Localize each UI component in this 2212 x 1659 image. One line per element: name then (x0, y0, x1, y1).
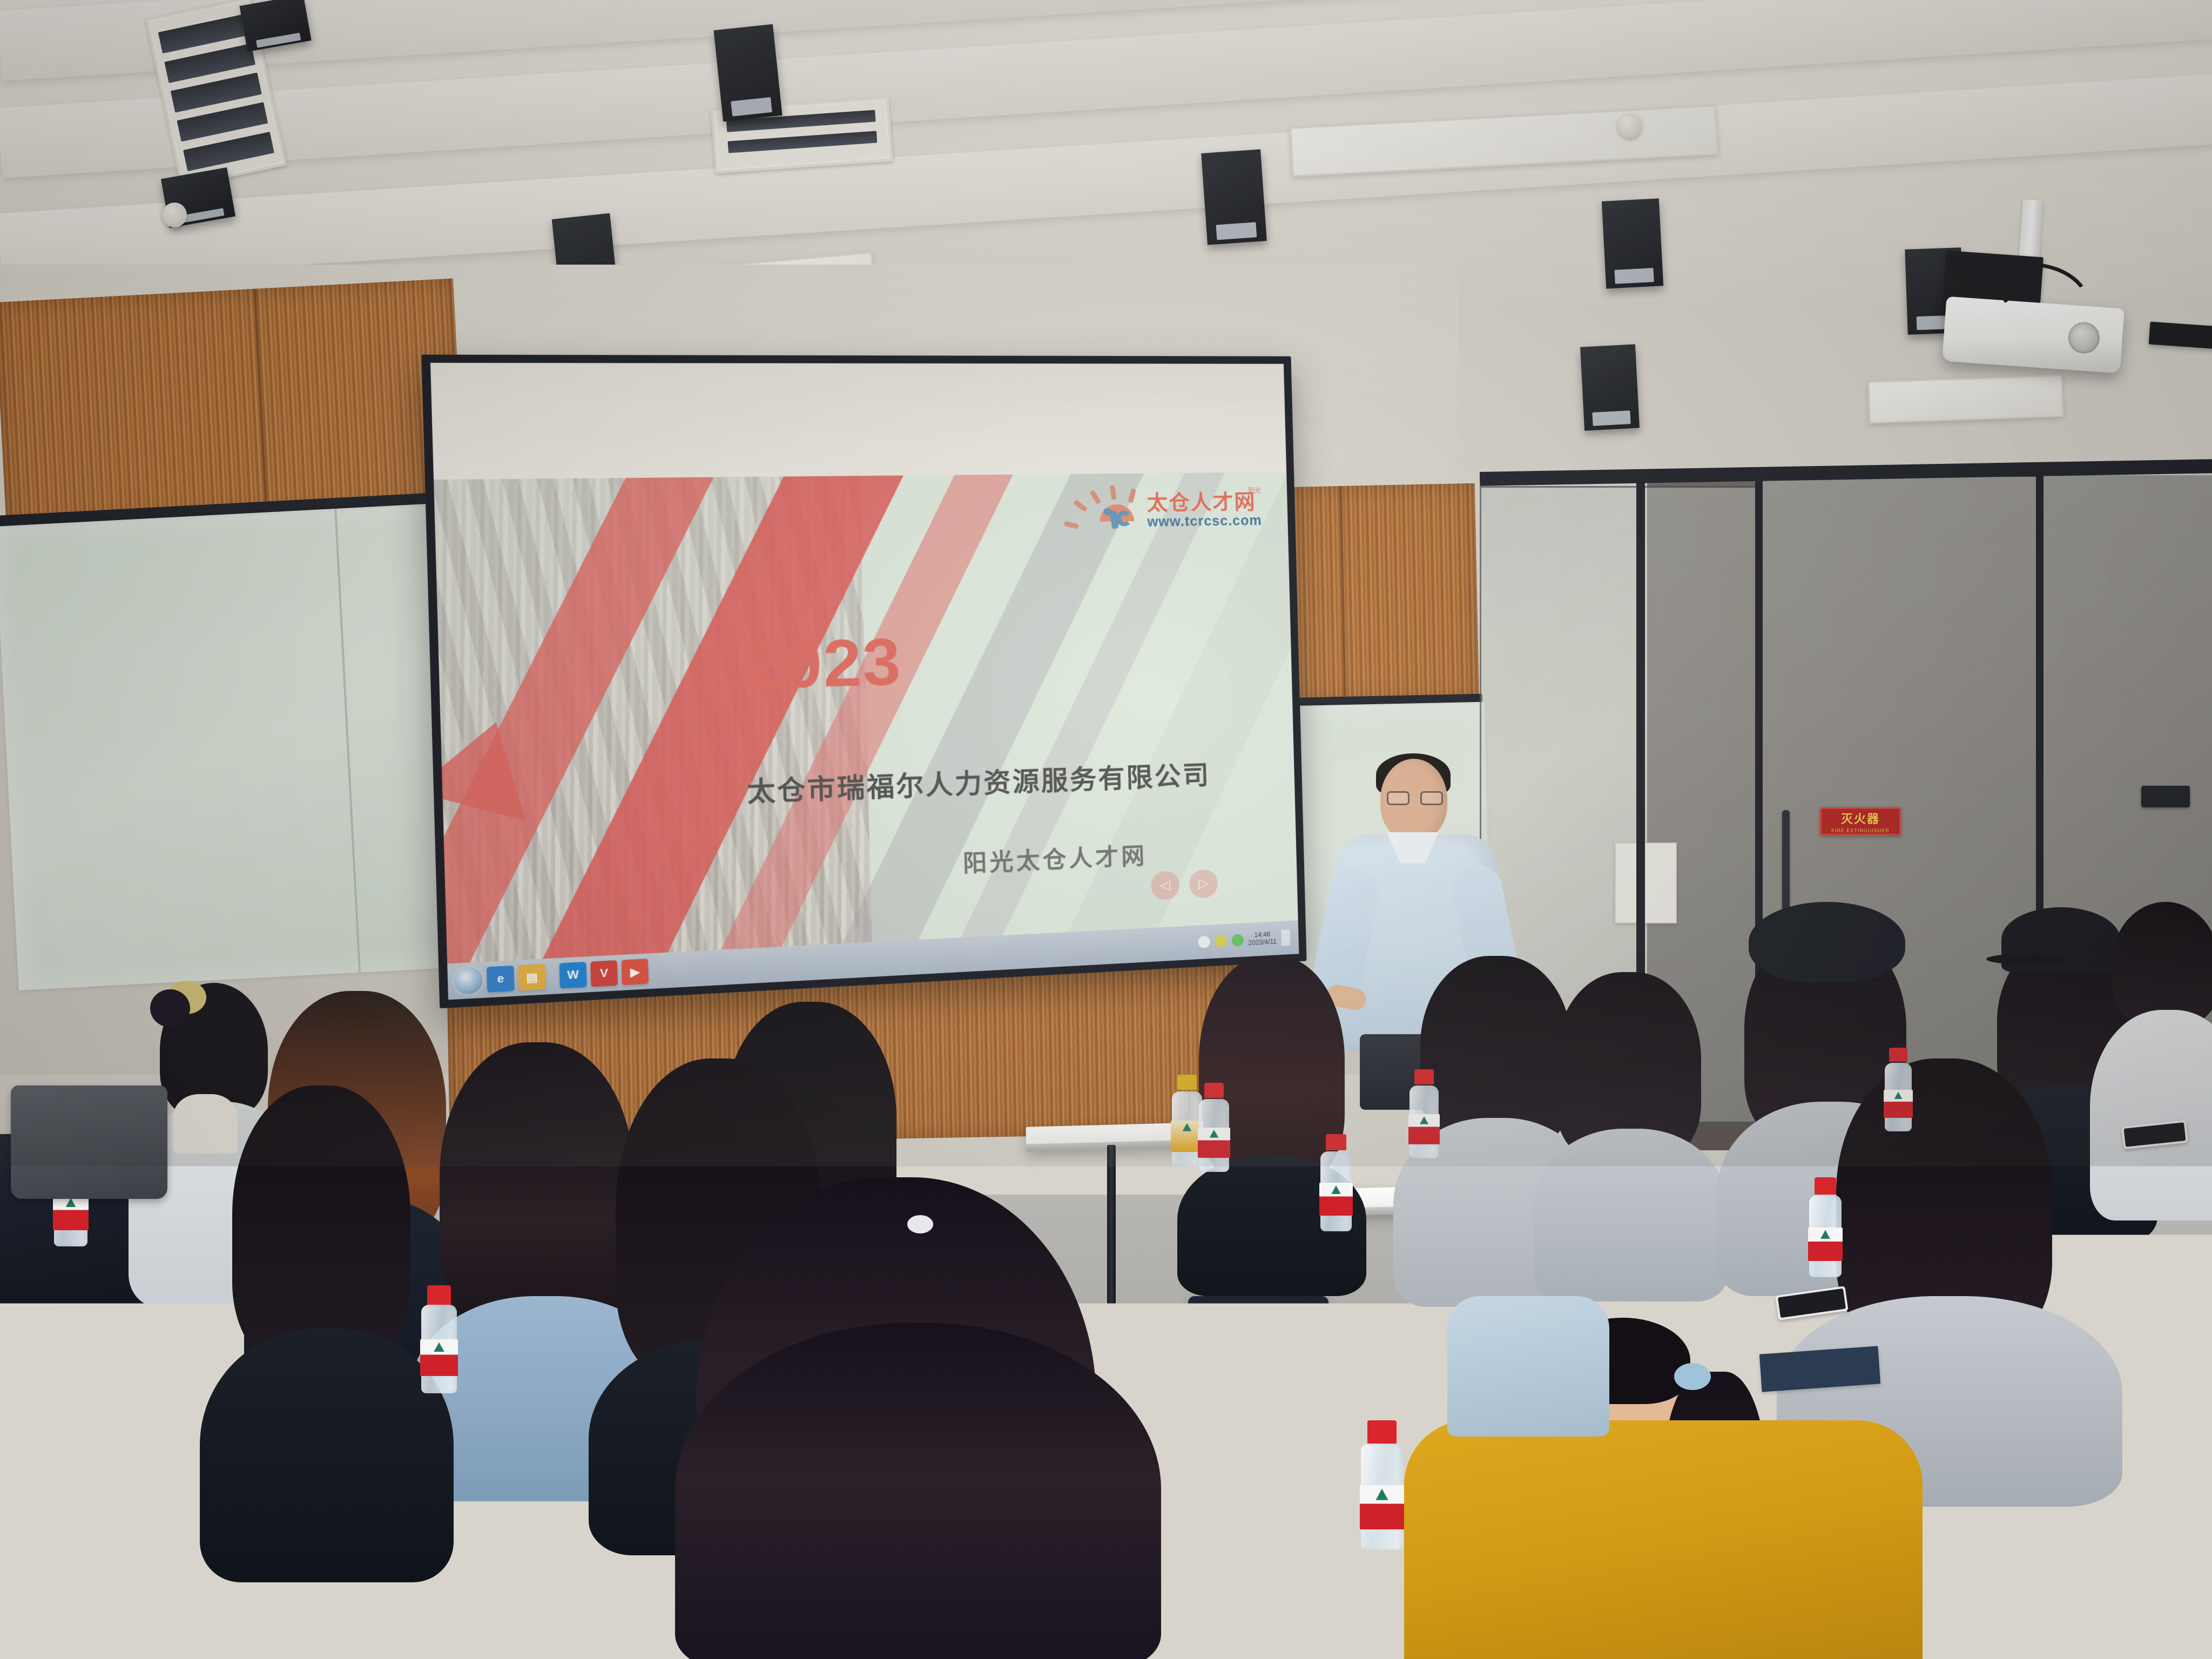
tcrcsc-logo: 阳光 太仓人才网 www.tcrcsc.com (1090, 487, 1262, 531)
audience-bun (150, 989, 190, 1027)
screen-frame: 阳光 太仓人才网 www.tcrcsc.com 2023 太仓市瑞福尔人力资源服… (421, 355, 1306, 1009)
fire-sign-cn: 灭火器 (1841, 810, 1880, 827)
audience-member (675, 1323, 1161, 1659)
notebook[interactable] (1235, 1579, 1373, 1656)
clock-date: 2023/4/11 (1248, 938, 1277, 947)
spot-light-icon (713, 24, 782, 122)
taskbar-icon-media-player[interactable]: ▶ (622, 959, 649, 985)
prev-arrow-icon: ◁ (1160, 879, 1170, 892)
next-slide-button[interactable]: ▷ (1189, 869, 1218, 899)
audience-hair (675, 1323, 1161, 1659)
door-lock-plate[interactable] (2141, 786, 2190, 807)
taskbar-icon-wps-office[interactable]: W (559, 962, 587, 989)
show-desktop-button[interactable] (1281, 929, 1290, 946)
smoke-detector-icon (162, 203, 187, 227)
sneaker (124, 1615, 219, 1657)
classroom-photo: 灭火器 FIRE EXTINGUISHER (0, 0, 2212, 1659)
audience-body (200, 1328, 454, 1582)
panel-light (1868, 375, 2064, 424)
spot-light-icon (1602, 198, 1663, 288)
sunrise-person-logo-icon (1090, 488, 1142, 531)
audience-hair (232, 1085, 410, 1366)
water-bottle[interactable] (1361, 1420, 1403, 1550)
audience-member (1539, 972, 1723, 1296)
water-bottle[interactable] (1809, 1177, 1842, 1277)
audience-body (1404, 1420, 1923, 1659)
next-arrow-icon: ▷ (1198, 877, 1209, 891)
screen-surface: 阳光 太仓人才网 www.tcrcsc.com 2023 太仓市瑞福尔人力资源服… (430, 363, 1299, 1000)
tray-shield-icon[interactable] (1215, 935, 1227, 947)
sneaker (211, 1620, 311, 1659)
wood-panel-left (0, 279, 465, 529)
chair[interactable] (1188, 1296, 1328, 1491)
tray-green-icon[interactable] (1231, 934, 1244, 947)
folder-icon: ▤ (526, 970, 538, 985)
system-tray[interactable]: 14:46 2023/4/11 (1197, 929, 1293, 950)
audience-body (1534, 1129, 1728, 1301)
presentation-slide: 阳光 太仓人才网 www.tcrcsc.com 2023 太仓市瑞福尔人力资源服… (434, 472, 1298, 963)
taskbar-icon-wechat-app[interactable]: V (590, 960, 618, 987)
logo-name-cn: 太仓人才网 (1147, 492, 1262, 514)
water-bottle[interactable] (421, 1285, 457, 1393)
cap-brim (1986, 954, 2067, 965)
audience-member (1447, 1296, 1609, 1437)
spot-light-icon (1201, 149, 1267, 245)
table-leg (103, 1336, 113, 1563)
hair-tie (907, 1215, 933, 1233)
wechat-icon: V (600, 967, 609, 980)
hair-tie (1674, 1363, 1711, 1390)
table-caster (80, 1555, 109, 1576)
glasses-icon (1387, 791, 1443, 805)
fire-extinguisher-sign: 灭火器 FIRE EXTINGUISHER (1820, 807, 1901, 835)
projector-lens-icon (2067, 321, 2101, 355)
fire-sign-en: FIRE EXTINGUISHER (1831, 828, 1890, 833)
water-bottle[interactable] (1320, 1134, 1352, 1231)
spot-light-icon (1580, 344, 1640, 430)
tray-arrow-icon[interactable] (1198, 936, 1210, 948)
taskbar-icon-explorer-folder[interactable]: ▤ (518, 964, 545, 991)
frosted-glass-left (0, 502, 494, 990)
audience-hair (2112, 902, 2212, 1026)
taskbar-clock[interactable]: 14:46 2023/4/11 (1248, 931, 1277, 947)
prev-slide-button[interactable]: ◁ (1150, 871, 1179, 900)
water-bottle[interactable] (1885, 1048, 1912, 1131)
beret-hat (1749, 902, 1905, 983)
ie-icon: e (497, 972, 504, 986)
logo-url: www.tcrcsc.com (1147, 514, 1262, 529)
audience-member (211, 1085, 437, 1572)
slide-nav-buttons[interactable]: ◁ ▷ (1150, 869, 1218, 900)
smoke-detector-icon (1617, 113, 1642, 138)
audience-member (2095, 902, 2212, 1215)
water-bottle[interactable] (1410, 1069, 1439, 1158)
slide-year: 2023 (743, 629, 902, 700)
projection-screen: 阳光 太仓人才网 www.tcrcsc.com 2023 太仓市瑞福尔人力资源服… (421, 355, 1306, 1009)
water-bottle[interactable] (1199, 1083, 1229, 1172)
backpack[interactable] (11, 1085, 167, 1199)
taskbar-icon-ie-browser[interactable]: e (487, 966, 515, 993)
wps-icon: W (567, 968, 579, 982)
play-icon: ▶ (630, 965, 640, 979)
audience-body (1447, 1296, 1609, 1437)
ceiling (0, 0, 2212, 302)
screen-blank-band (430, 363, 1286, 483)
ceiling-black-panel (2149, 322, 2212, 349)
wall-notice (1615, 842, 1677, 923)
